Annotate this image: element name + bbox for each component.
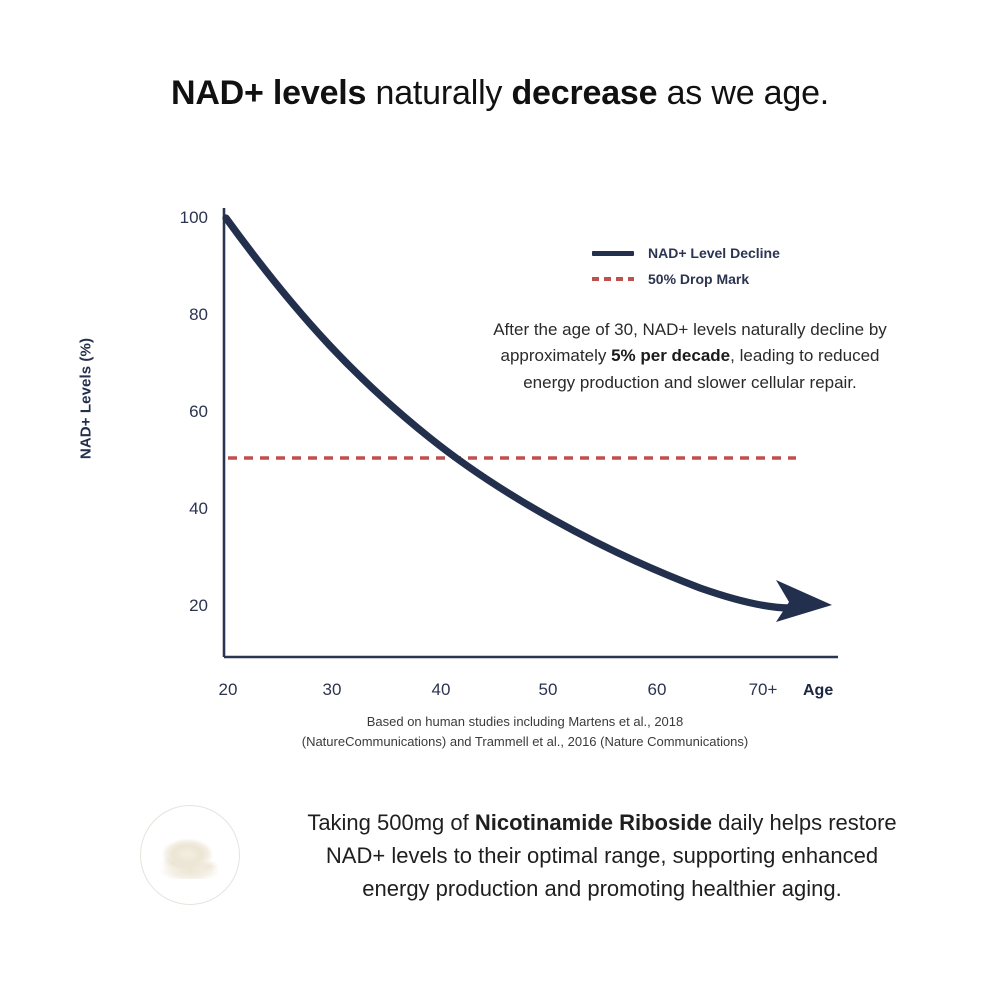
annotation-emphasis: 5% per decade [611,346,730,365]
page-title: NAD+ levels naturally decrease as we age… [0,72,1000,115]
x-axis-title: Age [803,682,833,700]
legend-item-drop-mark: 50% Drop Mark [592,266,780,292]
source-caption-line-2: (NatureCommunications) and Trammell et a… [302,734,749,749]
bottom-line-3: energy production and promoting healthie… [362,876,841,901]
legend-solid-line-icon [592,246,634,260]
chart-annotation: After the age of 30, NAD+ levels natural… [440,317,940,396]
curve-arrowhead-icon [776,580,832,622]
y-tick-100: 100 [162,208,208,228]
x-tick-20: 20 [198,680,258,700]
x-tick-50: 50 [518,680,578,700]
y-tick-20: 20 [162,596,208,616]
annotation-line-3: energy production and slower cellular re… [523,373,857,392]
y-tick-60: 60 [162,402,208,422]
x-tick-30: 30 [302,680,362,700]
bottom-line-2: NAD+ levels to their optimal range, supp… [326,843,878,868]
page-title-emphasis-decrease: decrease [511,74,657,112]
chart-legend: NAD+ Level Decline 50% Drop Mark [592,240,780,292]
powder-pile-graphic [159,835,221,879]
page-title-emphasis-nad: NAD+ levels [171,74,366,112]
annotation-line-2-post: , leading to reduced [730,346,879,365]
source-caption: Based on human studies including Martens… [190,712,860,752]
legend-label-drop-mark: 50% Drop Mark [648,271,749,287]
x-tick-70plus: 70+ [733,680,793,700]
legend-dotted-line-icon [592,272,634,286]
x-tick-40: 40 [411,680,471,700]
supplement-callout: Taking 500mg of Nicotinamide Riboside da… [0,805,1000,905]
page-title-text-2: as we age. [657,74,829,112]
annotation-line-2-pre: approximately [501,346,612,365]
curve-start-point [223,215,230,222]
powder-image [140,805,240,905]
legend-label-nad-decline: NAD+ Level Decline [648,245,780,261]
nad-decline-chart: NAD+ Levels (%) 100 80 60 40 20 20 30 40… [0,150,1000,770]
legend-item-nad-decline: NAD+ Level Decline [592,240,780,266]
bottom-line-1-post: daily helps restore [712,810,897,835]
page-title-text-1: naturally [366,74,511,112]
y-tick-80: 80 [162,305,208,325]
chart-canvas [0,150,1000,770]
bottom-line-1-pre: Taking 500mg of [307,810,475,835]
y-axis-title: NAD+ Levels (%) [78,299,95,499]
supplement-callout-text: Taking 500mg of Nicotinamide Riboside da… [252,806,952,905]
source-caption-line-1: Based on human studies including Martens… [367,714,684,729]
bottom-emphasis-ingredient: Nicotinamide Riboside [475,810,712,835]
y-tick-40: 40 [162,499,208,519]
x-tick-60: 60 [627,680,687,700]
annotation-line-1: After the age of 30, NAD+ levels natural… [493,320,887,339]
